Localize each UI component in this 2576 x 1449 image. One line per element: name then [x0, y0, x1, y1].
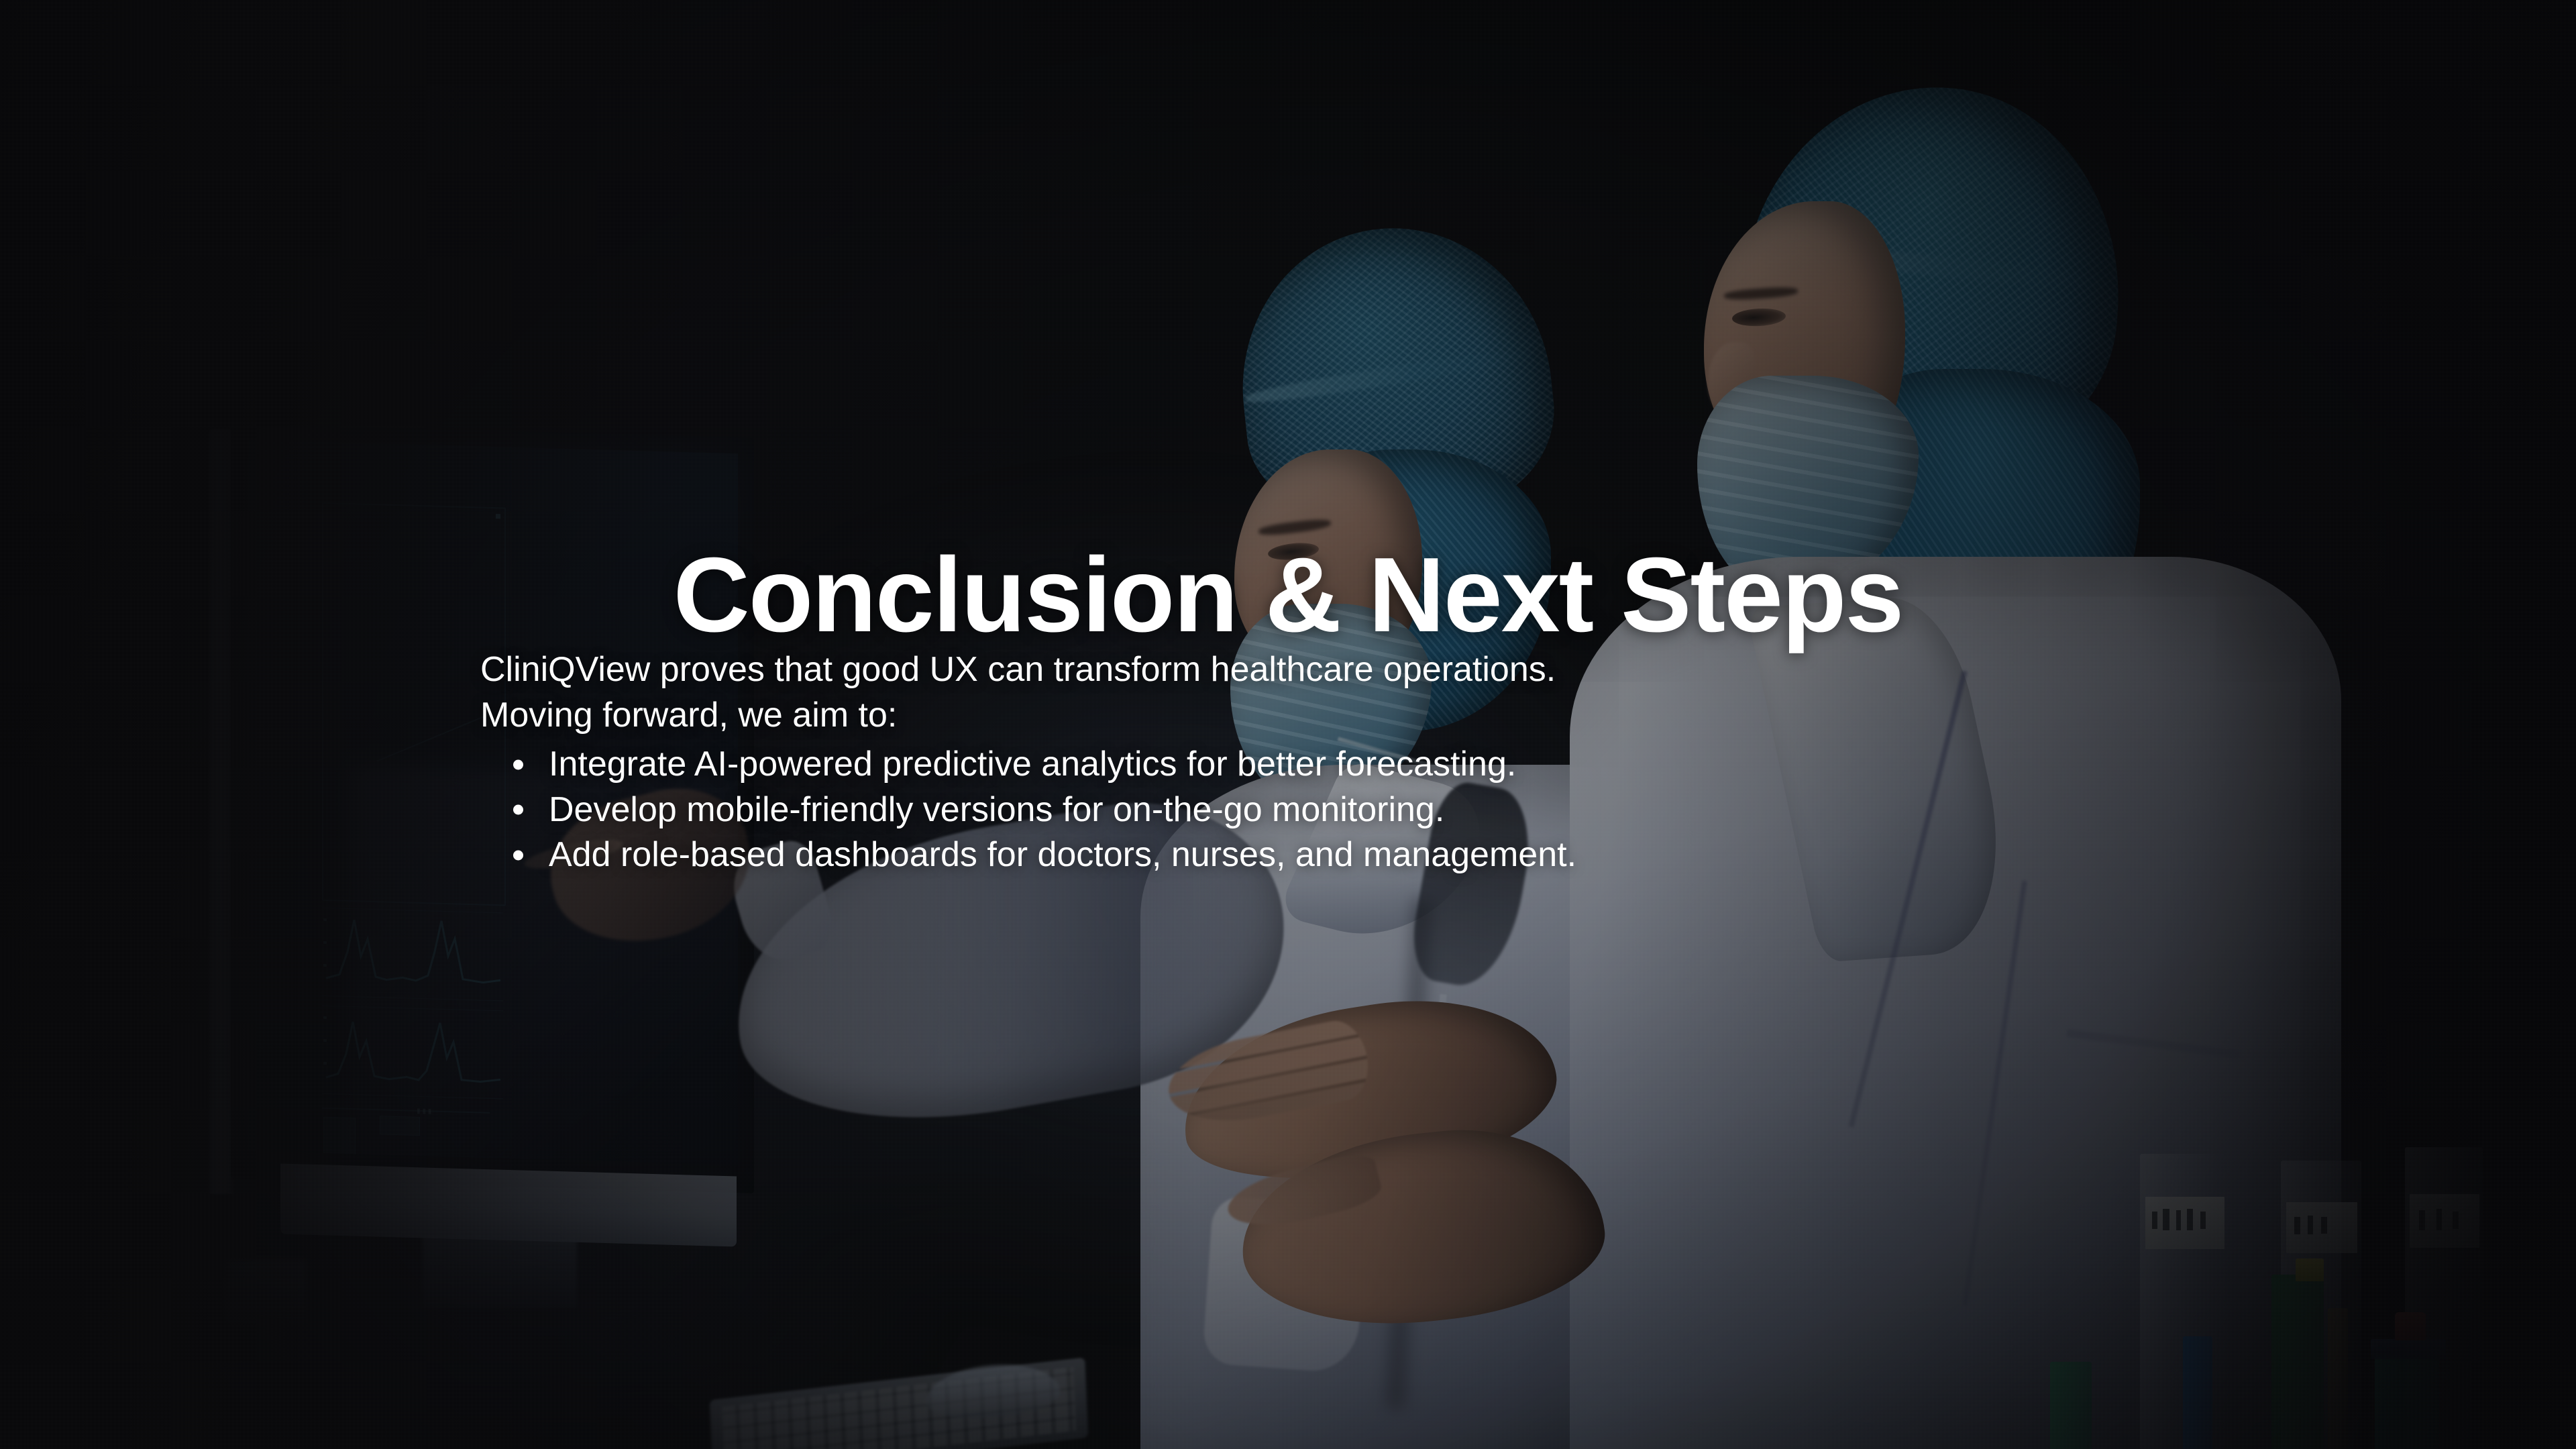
slide-body: CliniQView proves that good UX can trans…: [480, 652, 2117, 883]
next-steps-list: Integrate AI-powered predictive analytic…: [480, 747, 2117, 873]
list-item: Add role-based dashboards for doctors, n…: [480, 837, 2117, 873]
intro-line-2: Moving forward, we aim to:: [480, 698, 2117, 743]
bullet-dot-icon: [513, 850, 523, 860]
page-title: Conclusion & Next Steps: [0, 542, 2576, 648]
list-item-label: Add role-based dashboards for doctors, n…: [549, 835, 1576, 874]
list-item: Develop mobile-friendly versions for on-…: [480, 792, 2117, 828]
bullet-dot-icon: [513, 759, 523, 769]
intro-line-1: CliniQView proves that good UX can trans…: [480, 652, 2117, 698]
presentation-slide: ▮▮▮: [0, 0, 2576, 1449]
list-item-label: Develop mobile-friendly versions for on-…: [549, 790, 1444, 829]
list-item: Integrate AI-powered predictive analytic…: [480, 747, 2117, 783]
slide-content: Conclusion & Next Steps CliniQView prove…: [0, 0, 2576, 1449]
bullet-dot-icon: [513, 805, 523, 815]
list-item-label: Integrate AI-powered predictive analytic…: [549, 745, 1516, 784]
